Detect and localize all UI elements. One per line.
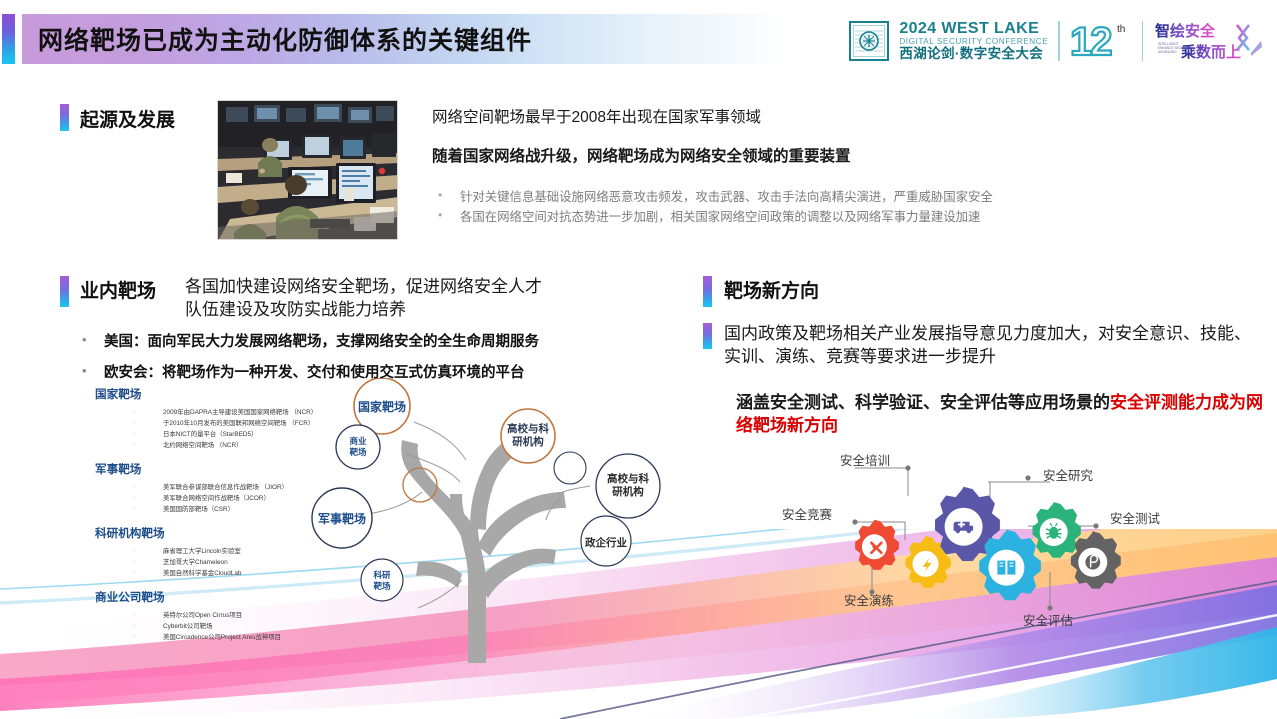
tree-node-label-gov-enterprise: 政企行业: [585, 536, 627, 549]
photo-illustration: [218, 101, 398, 240]
logo-wordmark: 2024 WEST LAKE DIGITAL SECURITY CONFEREN…: [899, 21, 1048, 60]
section-industry-heading: 业内靶场 各国加快建设网络安全靶场，促进网络安全人才 队伍建设及攻防实战能力培养: [60, 276, 542, 322]
svg-text:th: th: [1117, 24, 1125, 35]
slide-title-bar: 网络靶场已成为主动化防御体系的关键组件: [22, 14, 792, 64]
tree-node-label-commercial-1: 商业: [349, 436, 367, 446]
new-direction-para-1-row: 国内政策及靶场相关产业发展指导意见力度加大，对安全意识、技能、实训、演练、竞赛等…: [703, 323, 1263, 369]
logo-en-subtitle: DIGITAL SECURITY CONFERENCE: [899, 38, 1048, 46]
tree-graphic: 国家靶场 商业 靶场 高校与科 研机构 高校与科 研机构 军事靶场 政企行业 科…: [310, 378, 680, 663]
gear-label-training: 安全培训: [840, 450, 890, 469]
cyber-range-tree-diagram: 国家靶场 2009年由DAPRA主导建设美国国家网络靶场 （NCR） 于2010…: [95, 386, 695, 676]
gear-label-competition: 安全竞赛: [782, 504, 832, 523]
logo-edition: 12 th: [1070, 19, 1132, 63]
svg-text:12: 12: [1070, 20, 1111, 63]
tree-node-label-military: 军事靶场: [318, 511, 366, 526]
section-industry-title: 业内靶场: [80, 276, 156, 303]
logo-year-line: 2024 WEST LAKE: [899, 21, 1048, 37]
section-accent-bar-origin: [60, 104, 69, 131]
new-direction-para-2: 涵盖安全测试、科学验证、安全评估等应用场景的安全评测能力成为网络靶场新方向: [736, 392, 1263, 438]
section-origin-heading: 起源及发展: [60, 104, 175, 132]
tree-node-label-academic-a-1: 高校与科: [507, 422, 549, 435]
industry-bullet-1: 美国：面向军民大力发展网络靶场，支撑网络安全的全生命周期服务: [74, 334, 542, 351]
tree-node-label-academic-b-1: 高校与科: [607, 472, 649, 485]
new-direction-para-1: 国内政策及靶场相关产业发展指导意见力度加大，对安全意识、技能、实训、演练、竞赛等…: [724, 323, 1263, 369]
section-new-direction: 靶场新方向 国内政策及靶场相关产业发展指导意见力度加大，对安全意识、技能、实训、…: [703, 276, 1263, 438]
origin-bullet-1: 针对关键信息基础设施网络恶意攻击频发，攻击武器、攻击手法向高精尖演进，严重威胁国…: [432, 187, 1192, 207]
gear-label-assessment: 安全评估: [1023, 610, 1073, 629]
section-industry: 业内靶场 各国加快建设网络安全靶场，促进网络安全人才 队伍建设及攻防实战能力培养…: [60, 276, 542, 396]
section-new-direction-heading: 靶场新方向: [703, 276, 1263, 307]
gear-blue: [979, 530, 1041, 601]
section-accent-bar-industry: [60, 276, 69, 307]
tree-node-label-research-1: 科研: [373, 570, 391, 580]
security-capability-gears: 安全培训 安全研究 安全竞赛 安全测试 安全演练 安全评估: [760, 440, 1230, 640]
west-lake-seal-icon: [849, 21, 889, 61]
tree-node-circle-empty-1: [554, 452, 586, 484]
origin-bullet-list: 针对关键信息基础设施网络恶意攻击频发，攻击武器、攻击手法向高精尖演进，严重威胁国…: [432, 187, 1192, 227]
gear-label-testing: 安全测试: [1110, 508, 1160, 527]
operations-center-photo: [217, 100, 398, 240]
tree-node-circle-research: [361, 559, 403, 601]
section-origin-title: 起源及发展: [80, 105, 175, 132]
industry-desc-line-1: 各国加快建设网络安全靶场，促进网络安全人才: [185, 276, 542, 299]
logo-divider-1: [1058, 21, 1059, 61]
conference-logo: 2024 WEST LAKE DIGITAL SECURITY CONFEREN…: [849, 18, 1265, 64]
origin-lead-2: 随着国家网络战升级，网络靶场成为网络安全领域的重要装置: [432, 147, 1192, 166]
gear-green: [1033, 502, 1081, 558]
gear-label-research: 安全研究: [1043, 465, 1093, 484]
page-title: 网络靶场已成为主动化防御体系的关键组件: [22, 21, 532, 57]
tree-node-label-academic-b-2: 研机构: [612, 485, 644, 498]
logo-cn-name: 西湖论剑·数字安全大会: [899, 47, 1048, 61]
origin-bullet-2: 各国在网络空间对抗态势进一步加剧，相关国家网络空间政策的调整以及网络军事力量建设…: [432, 207, 1192, 227]
tree-node-label-commercial-2: 靶场: [349, 447, 367, 457]
section-accent-bar-newdir-2: [703, 323, 712, 349]
edition-number-icon: 12 th: [1070, 19, 1132, 63]
industry-bullet-2: 欧安会：将靶场作为一种开发、交付和使用交互式仿真环境的平台: [74, 365, 542, 382]
gear-label-drill: 安全演练: [844, 590, 894, 609]
section-new-direction-title: 靶场新方向: [724, 276, 819, 303]
section-origin-body: 网络空间靶场最早于2008年出现在国家军事领域 随着国家网络战升级，网络靶场成为…: [432, 108, 1192, 227]
tree-trunk-icon: [401, 440, 566, 663]
target-icon: [1085, 555, 1100, 570]
new-direction-para-2-normal: 涵盖安全测试、科学验证、安全评估等应用场景的: [736, 393, 1110, 412]
section-accent-bar-newdir: [703, 276, 712, 307]
tree-node-label-national: 国家靶场: [358, 399, 406, 414]
logo-divider-2: [1142, 21, 1143, 61]
title-accent-bar: [2, 14, 15, 64]
gear-grey: [1071, 531, 1121, 588]
origin-lead-1: 网络空间靶场最早于2008年出现在国家军事领域: [432, 108, 1192, 127]
svg-text:ADVANCING: ADVANCING: [1158, 50, 1177, 54]
industry-desc-line-2: 队伍建设及攻防实战能力培养: [185, 299, 542, 322]
tree-node-label-academic-a-2: 研机构: [512, 435, 544, 448]
industry-description: 各国加快建设网络安全靶场，促进网络安全人才 队伍建设及攻防实战能力培养: [185, 276, 542, 322]
gear-red: [855, 520, 899, 570]
logo-slogan-icon: 智绘安全 乘数而上 INTELLIGENT ENHANCE SECURITY A…: [1153, 19, 1265, 63]
industry-bullet-list: 美国：面向军民大力发展网络靶场，支撑网络安全的全生命周期服务 欧安会：将靶场作为…: [74, 334, 542, 383]
svg-text:智绘安全: 智绘安全: [1155, 22, 1216, 40]
tree-node-label-research-2: 靶场: [373, 581, 391, 591]
gears-graphic: [760, 440, 1230, 640]
